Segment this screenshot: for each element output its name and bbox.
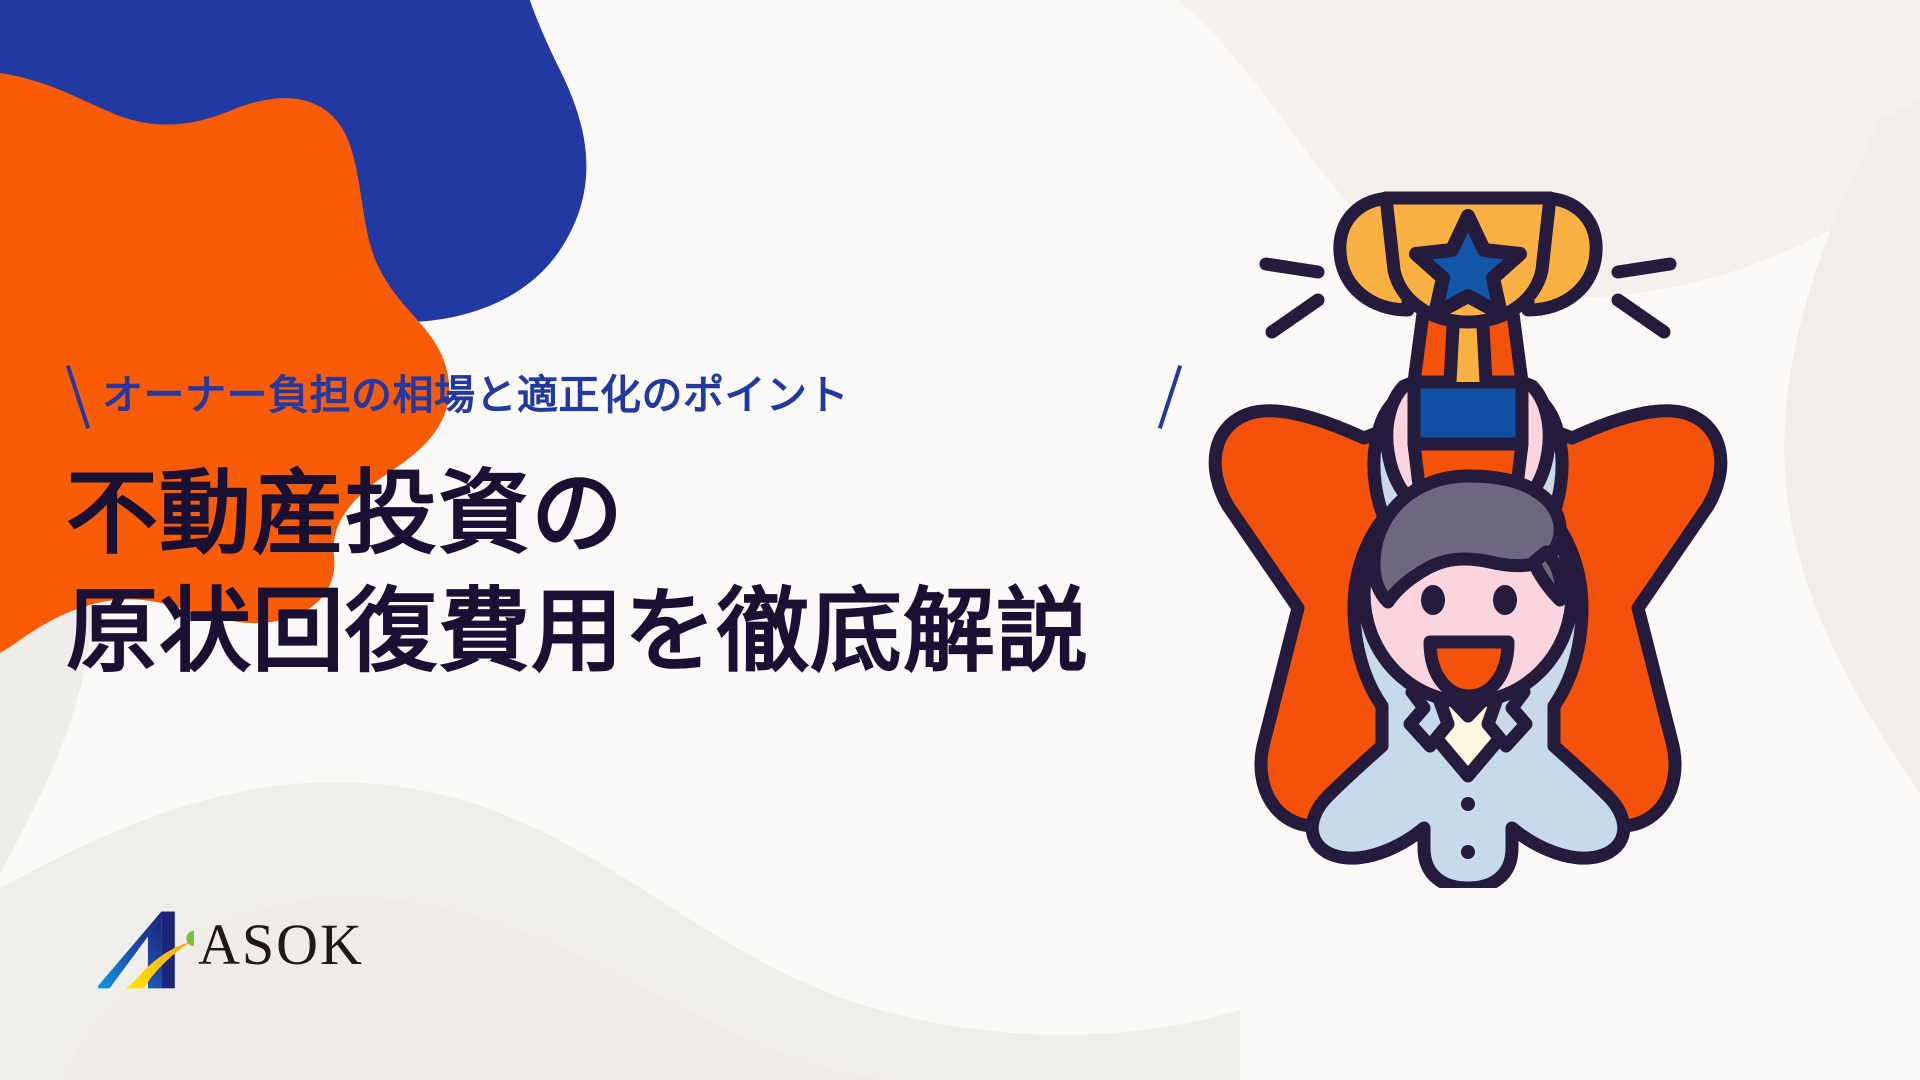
title-line-1: 不動産投資の <box>66 456 1246 574</box>
hero-eyebrow: オーナー負担の相場と適正化のポイント <box>102 375 849 416</box>
eye-right <box>1493 585 1517 615</box>
businessman-holding-trophy-illustration <box>1168 176 1768 888</box>
hero-text-block: オーナー負担の相場と適正化のポイント 不動産投資の 原状回復費用を徹底解説 <box>66 352 1246 753</box>
sparkle-left-1 <box>1266 264 1318 272</box>
sparkle-left-2 <box>1272 300 1318 332</box>
asok-a-mark-icon <box>98 900 194 996</box>
title-line-2: 原状回復費用を徹底解説 <box>66 574 1246 692</box>
blue-blob-top-left <box>0 0 586 322</box>
hero-banner: オーナー負担の相場と適正化のポイント 不動産投資の 原状回復費用を徹底解説 <box>0 0 1920 1080</box>
slash-left-decoration <box>66 365 90 429</box>
sparkle-right-1 <box>1618 264 1670 272</box>
trophy-banner <box>1414 382 1522 444</box>
asok-wordmark: ASOK <box>198 916 364 980</box>
soft-blob-right <box>1784 80 1920 860</box>
page-title: 不動産投資の 原状回復費用を徹底解説 <box>66 456 1246 692</box>
mouth <box>1430 642 1508 696</box>
suit-button-1 <box>1461 797 1475 811</box>
eye-left <box>1421 585 1445 615</box>
suit-button-2 <box>1461 845 1475 859</box>
eyebrow-row: オーナー負担の相場と適正化のポイント <box>66 352 1246 438</box>
asok-logo[interactable]: ASOK <box>98 900 364 996</box>
sparkle-right-2 <box>1618 300 1664 332</box>
